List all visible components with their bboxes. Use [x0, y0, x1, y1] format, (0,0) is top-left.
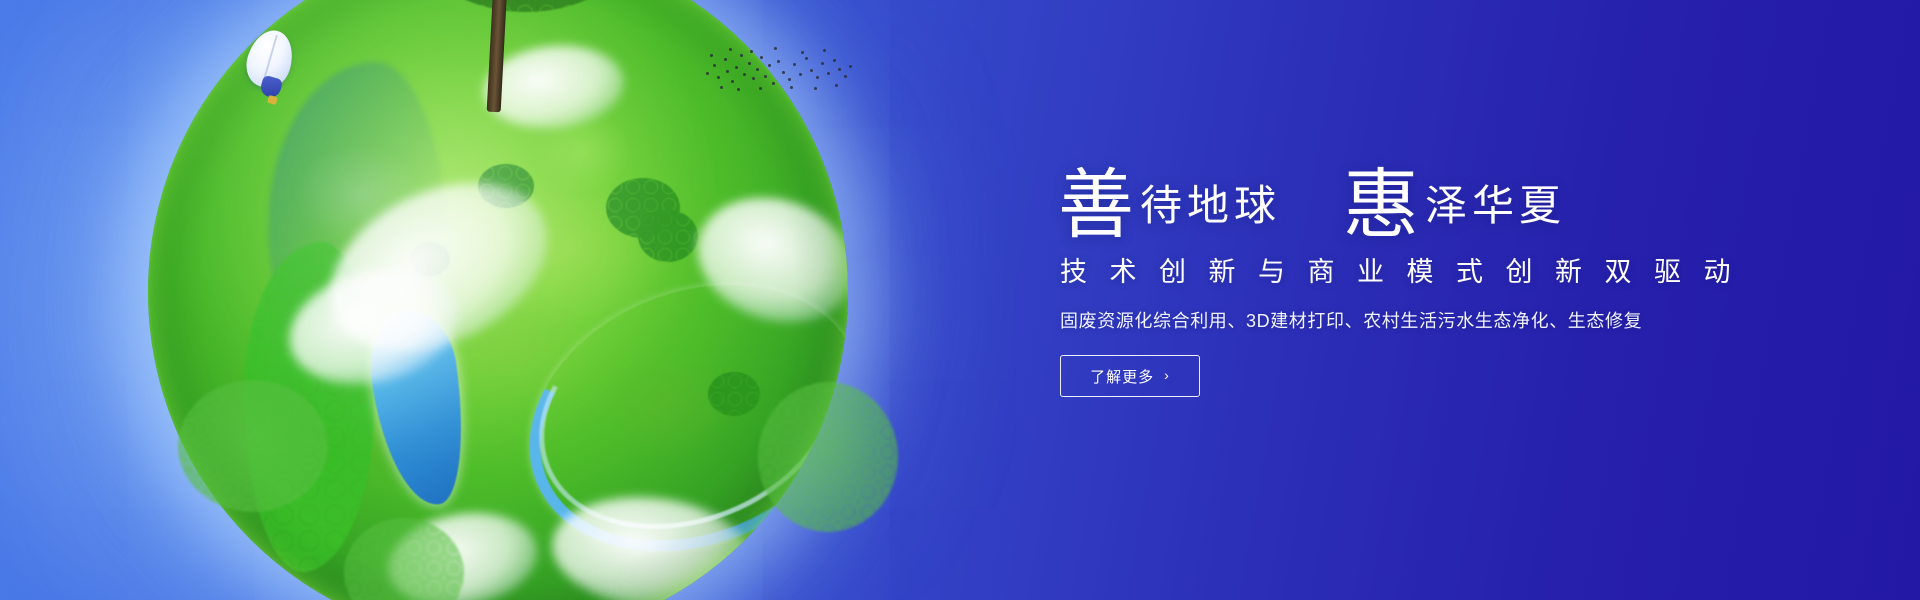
hero-banner: 善 待地球 惠 泽华夏 技 术 创 新 与 商 业 模 式 创 新 双 驱 动 … — [0, 0, 1920, 600]
learn-more-label: 了解更多 — [1090, 366, 1154, 387]
bird-icon — [835, 84, 838, 87]
bird-icon — [827, 72, 830, 75]
bird-icon — [750, 50, 753, 53]
bird-icon — [777, 60, 780, 63]
rim-tree — [758, 382, 898, 532]
bird-icon — [710, 54, 713, 57]
bird-icon — [706, 72, 709, 75]
bird-icon — [759, 87, 762, 90]
bird-icon — [724, 58, 727, 61]
bird-icon — [774, 47, 777, 50]
headline-primary-1: 善 — [1058, 172, 1134, 242]
bird-icon — [790, 86, 793, 89]
bird-icon — [821, 62, 824, 65]
bird-icon — [844, 75, 847, 78]
bird-icon — [772, 82, 775, 85]
bird-icon — [720, 86, 723, 89]
bird-icon — [799, 73, 802, 76]
bird-icon — [729, 48, 732, 51]
bird-icon — [801, 51, 804, 54]
bird-icon — [849, 65, 852, 68]
bird-icon — [814, 87, 817, 90]
balloon-basket — [267, 95, 278, 105]
bird-icon — [833, 59, 836, 62]
hero-subtitle: 技 术 创 新 与 商 业 模 式 创 新 双 驱 动 — [1060, 250, 1818, 289]
hero-copy: 善 待地球 惠 泽华夏 技 术 创 新 与 商 业 模 式 创 新 双 驱 动 … — [1058, 140, 1818, 397]
bird-icon — [743, 73, 746, 76]
bird-icon — [805, 57, 808, 60]
bird-icon — [764, 75, 767, 78]
hot-air-balloon-icon — [248, 30, 292, 122]
bird-icon — [752, 77, 755, 80]
bird-icon — [782, 71, 785, 74]
bird-icon — [823, 49, 826, 52]
headline-secondary-2: 泽华夏 — [1425, 186, 1566, 228]
bird-icon — [731, 80, 734, 83]
page-title: 善 待地球 惠 泽华夏 — [1058, 140, 1818, 236]
bird-flock-icon — [702, 42, 852, 98]
bird-icon — [793, 63, 796, 66]
bird-icon — [717, 76, 720, 79]
bird-icon — [816, 76, 819, 79]
rim-tree — [178, 380, 328, 512]
bird-icon — [788, 78, 791, 81]
bird-icon — [740, 54, 743, 57]
bird-icon — [748, 62, 751, 65]
bird-icon — [768, 64, 771, 67]
learn-more-button[interactable]: 了解更多 › — [1060, 355, 1200, 397]
hero-tagline: 固废资源化综合利用、3D建材打印、农村生活污水生态净化、生态修复 — [1060, 307, 1818, 333]
bird-icon — [735, 66, 738, 69]
bird-icon — [760, 56, 763, 59]
bird-icon — [756, 68, 759, 71]
bird-icon — [810, 69, 813, 72]
bird-icon — [737, 88, 740, 91]
bird-icon — [713, 64, 716, 67]
bird-icon — [726, 70, 729, 73]
bird-icon — [838, 68, 841, 71]
headline-secondary-1: 待地球 — [1140, 186, 1281, 228]
chevron-right-icon: › — [1164, 368, 1170, 382]
headline-primary-2: 惠 — [1343, 172, 1419, 242]
